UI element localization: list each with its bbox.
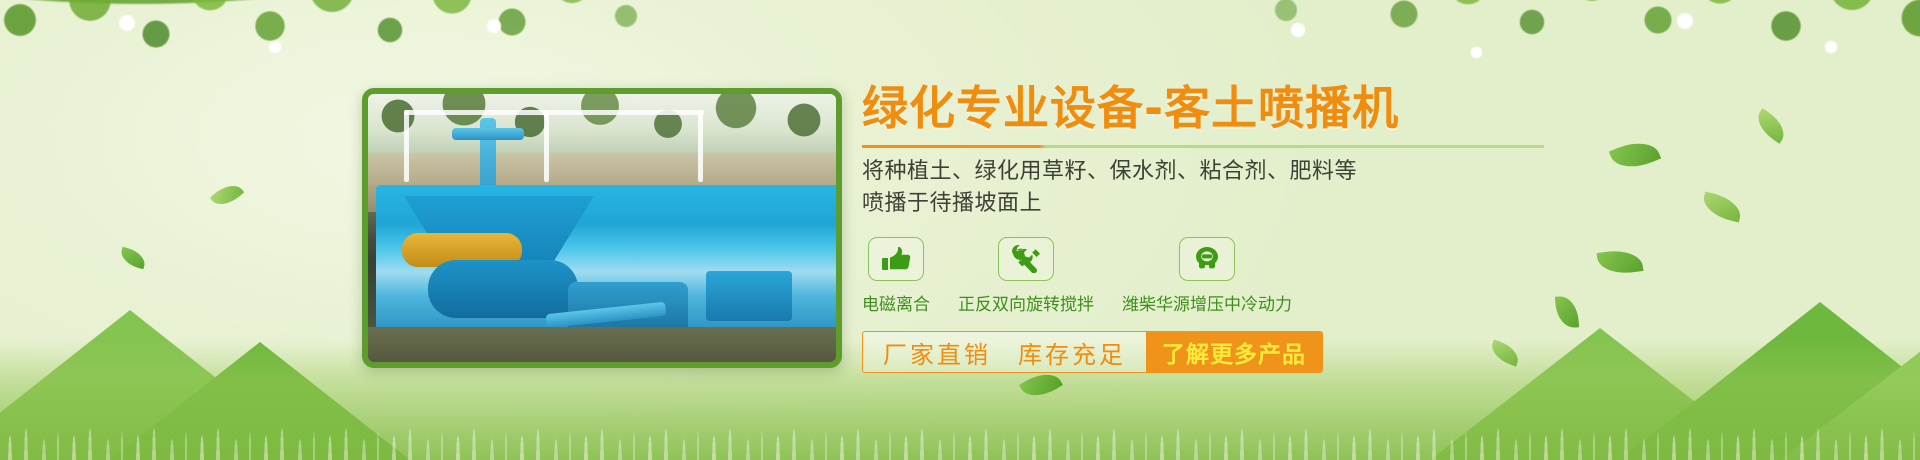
flower-decoration	[118, 14, 136, 32]
grass-blades-decoration	[0, 370, 1920, 460]
feature-list: 电磁离合 正反双向旋转搅拌	[862, 237, 1582, 315]
thumbs-up-icon	[868, 237, 924, 281]
title-divider	[862, 145, 1544, 148]
feature-item-electromagnetic-clutch[interactable]: 电磁离合	[862, 237, 930, 315]
engine-gear-icon	[1179, 237, 1235, 281]
flower-decoration	[1676, 12, 1694, 30]
subtitle-line-1: 将种植土、绿化用草籽、保水剂、粘合剂、肥料等	[862, 156, 1582, 188]
floating-leaf-icon	[1609, 134, 1661, 175]
flower-decoration	[268, 40, 282, 54]
banner-title: 绿化专业设备-客土喷播机	[862, 84, 1582, 134]
flower-decoration	[1470, 46, 1483, 59]
promo-banner: 绿化专业设备-客土喷播机 将种植土、绿化用草籽、保水剂、粘合剂、肥料等 喷播于待…	[0, 0, 1920, 460]
photo-pump-drum	[428, 260, 578, 318]
feature-item-bidirectional-mixing[interactable]: 正反双向旋转搅拌	[958, 237, 1094, 315]
banner-content: 绿化专业设备-客土喷播机 将种植土、绿化用草籽、保水剂、粘合剂、肥料等 喷播于待…	[862, 84, 1582, 373]
product-photo[interactable]	[362, 88, 842, 368]
photo-control-box	[706, 271, 792, 321]
feature-label: 电磁离合	[862, 290, 930, 315]
floating-leaf-icon	[1751, 108, 1790, 144]
photo-horizontal-pipe	[452, 128, 524, 140]
floating-leaf-icon	[210, 178, 245, 211]
cta-bar: 厂家直销 库存充足 了解更多产品	[862, 331, 1323, 373]
photo-railing	[404, 110, 409, 182]
photo-railing	[544, 110, 549, 182]
flower-decoration	[486, 18, 502, 34]
photo-railing	[404, 110, 704, 115]
photo-ground-region	[368, 327, 836, 362]
flower-decoration	[1290, 22, 1306, 38]
product-photo-image	[368, 94, 836, 362]
feature-item-weichai-power[interactable]: 潍柴华源增压中冷动力	[1122, 237, 1292, 315]
flower-decoration	[1824, 40, 1838, 54]
cta-slogan: 厂家直销 库存充足	[863, 332, 1146, 372]
photo-railing	[698, 110, 703, 182]
subtitle-line-2: 喷播于待播坡面上	[862, 188, 1582, 220]
feature-label: 潍柴华源增压中冷动力	[1122, 290, 1292, 315]
learn-more-button[interactable]: 了解更多产品	[1146, 332, 1322, 372]
wrench-screwdriver-icon	[998, 237, 1054, 281]
banner-subtitle: 将种植土、绿化用草籽、保水剂、粘合剂、肥料等 喷播于待播坡面上	[862, 156, 1582, 220]
feature-label: 正反双向旋转搅拌	[958, 290, 1094, 315]
